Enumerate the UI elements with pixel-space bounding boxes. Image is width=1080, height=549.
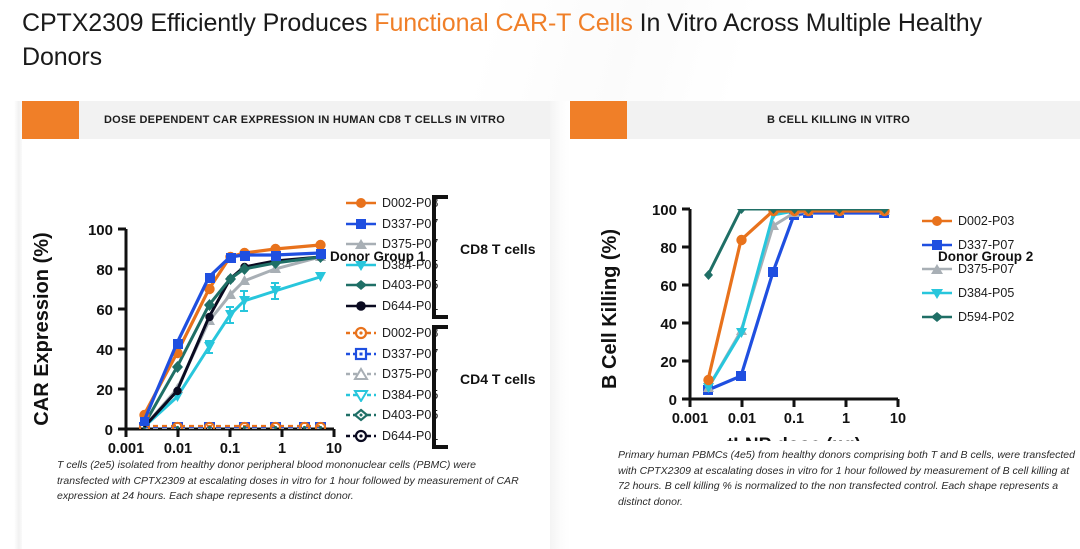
legend-item[interactable]: D375-P07 <box>920 257 1014 281</box>
svg-text:0.01: 0.01 <box>728 411 756 427</box>
legend-item[interactable]: D375-P07 <box>344 364 438 385</box>
caption-right: Primary human PBMCs (4e5) from healthy d… <box>618 448 1078 510</box>
legend-item[interactable]: D384-P05 <box>344 255 438 276</box>
legend-item[interactable]: D384-P05 <box>344 385 438 406</box>
legend-cd8: D002-P08 D337-P07 D375-P07 D384-P05 D403… <box>344 193 438 316</box>
series-D002-P03-b <box>703 206 889 385</box>
svg-text:40: 40 <box>660 316 677 333</box>
page-title: CPTX2309 Efficiently Produces Functional… <box>22 6 1062 74</box>
bracket-cd4 <box>430 324 456 450</box>
legend-key-triangle-gray <box>344 237 378 251</box>
svg-text:0: 0 <box>669 392 677 409</box>
svg-text:100: 100 <box>652 202 677 219</box>
series-D384-P05-b <box>703 206 890 393</box>
svg-text:0: 0 <box>105 422 113 439</box>
panel-right-title: B CELL KILLING IN VITRO <box>627 114 1080 126</box>
legend-item[interactable]: D337-P07 <box>344 214 438 235</box>
legend-key-hexagon-open-black <box>344 429 378 443</box>
legend-item[interactable]: D337-P07 <box>920 233 1014 257</box>
svg-text:0.001: 0.001 <box>108 441 144 457</box>
legend-item[interactable]: D384-P05 <box>920 281 1014 305</box>
svg-text:80: 80 <box>660 240 677 257</box>
legend-key-hexagon-black <box>344 299 378 313</box>
svg-text:10: 10 <box>326 441 342 457</box>
bracket-label-cd4: CD4 T cells <box>460 371 535 387</box>
legend-key-triangle-down-cyan <box>344 258 378 272</box>
legend-key-triangle-down-open-cyan <box>344 388 378 402</box>
panel-right-header: B CELL KILLING IN VITRO <box>570 101 1080 139</box>
legend-key-triangle-down-cyan <box>920 286 954 300</box>
x-ticklabels-left: 0.001 0.01 0.1 1 10 <box>108 441 342 457</box>
legend-key-circle-orange <box>920 214 954 228</box>
legend-key-circle-orange <box>344 196 378 210</box>
x-axis-label-right: tLNP dose (µg) <box>727 435 861 441</box>
legend-item[interactable]: D002-P03 <box>920 209 1014 233</box>
svg-text:60: 60 <box>660 278 677 295</box>
series-D337-P07-b <box>703 208 889 395</box>
legend-item[interactable]: D337-P07 <box>344 344 438 365</box>
svg-text:40: 40 <box>96 342 113 359</box>
svg-text:20: 20 <box>660 354 677 371</box>
svg-text:0.1: 0.1 <box>220 441 240 457</box>
panel-car-expression: DOSE DEPENDENT CAR EXPRESSION IN HUMAN C… <box>22 101 550 549</box>
legend-cd4: D002-P08 D337-P07 D375-P07 D384-P05 <box>344 323 438 446</box>
series-D384-P05-cd8 <box>144 272 326 427</box>
svg-text:0.01: 0.01 <box>164 441 192 457</box>
svg-text:1: 1 <box>842 411 850 427</box>
svg-text:100: 100 <box>88 222 113 239</box>
panel-left-accent-block <box>22 101 79 139</box>
legend-item[interactable]: D002-P08 <box>344 323 438 344</box>
legend-key-diamond-open-teal <box>344 408 378 422</box>
legend-label: D594-P02 <box>954 310 1014 324</box>
svg-text:0.1: 0.1 <box>784 411 804 427</box>
series-D375-P07-b <box>703 205 890 392</box>
car-expression-series-group <box>139 240 326 432</box>
legend-key-triangle-open-gray <box>344 367 378 381</box>
legend-key-circle-open-orange <box>344 326 378 340</box>
legend-key-square-blue <box>344 217 378 231</box>
series-D002-P08-cd8 <box>139 240 325 420</box>
legend-item[interactable]: D403-P05 <box>344 405 438 426</box>
title-highlight: Functional CAR-T Cells <box>374 9 633 37</box>
svg-text:80: 80 <box>96 262 113 279</box>
y-axis-label-left: CAR Expression (%) <box>31 232 53 425</box>
y-ticklabels-left: 0 20 40 60 80 100 <box>88 222 113 439</box>
legend-item[interactable]: D403-P05 <box>344 275 438 296</box>
title-part1: CPTX2309 Efficiently Produces <box>22 9 374 37</box>
y-ticklabels-right: 0 20 40 60 80 100 <box>652 202 677 409</box>
legend-key-triangle-gray <box>920 262 954 276</box>
legend-label: D384-P05 <box>954 286 1014 300</box>
car-expression-svg: CAR Expression (%) 0 20 40 60 80 100 <box>22 141 550 461</box>
chart-car-expression: CAR Expression (%) 0 20 40 60 80 100 <box>22 141 550 461</box>
b-cell-series-group <box>703 204 890 395</box>
x-ticklabels-right: 0.001 0.01 0.1 1 10 <box>672 411 906 427</box>
panel-left-shadow <box>14 101 22 549</box>
svg-text:1: 1 <box>278 441 286 457</box>
legend-b-cell: D002-P03 D337-P07 D375-P07 D384-P05 D594… <box>920 209 1014 329</box>
panel-b-cell-killing: B CELL KILLING IN VITRO Donor Group 2 B … <box>570 101 1080 549</box>
legend-key-square-blue <box>920 238 954 252</box>
svg-text:60: 60 <box>96 302 113 319</box>
legend-item[interactable]: D644-P01 <box>344 296 438 317</box>
svg-text:10: 10 <box>890 411 906 427</box>
caption-left: T cells (2e5) isolated from healthy dono… <box>57 458 527 505</box>
legend-item[interactable]: D002-P08 <box>344 193 438 214</box>
legend-item[interactable]: D644-P01 <box>344 426 438 447</box>
legend-key-diamond-teal <box>920 310 954 324</box>
legend-key-square-open-blue <box>344 347 378 361</box>
panel-right-shadow <box>550 101 570 549</box>
legend-label: D337-P07 <box>954 238 1014 252</box>
legend-key-diamond-teal <box>344 278 378 292</box>
svg-text:0.001: 0.001 <box>672 411 708 427</box>
panel-left-header: DOSE DEPENDENT CAR EXPRESSION IN HUMAN C… <box>22 101 550 139</box>
legend-label: D375-P07 <box>954 262 1014 276</box>
svg-text:20: 20 <box>96 382 113 399</box>
legend-item[interactable]: D594-P02 <box>920 305 1014 329</box>
panel-left-title: DOSE DEPENDENT CAR EXPRESSION IN HUMAN C… <box>79 114 550 126</box>
bracket-label-cd8: CD8 T cells <box>460 241 535 257</box>
bracket-cd8 <box>430 194 456 320</box>
legend-label: D002-P03 <box>954 214 1014 228</box>
panel-right-accent-block <box>570 101 627 139</box>
legend-item[interactable]: D375-P07 <box>344 234 438 255</box>
y-axis-label-right: B Cell Killing (%) <box>599 229 621 389</box>
